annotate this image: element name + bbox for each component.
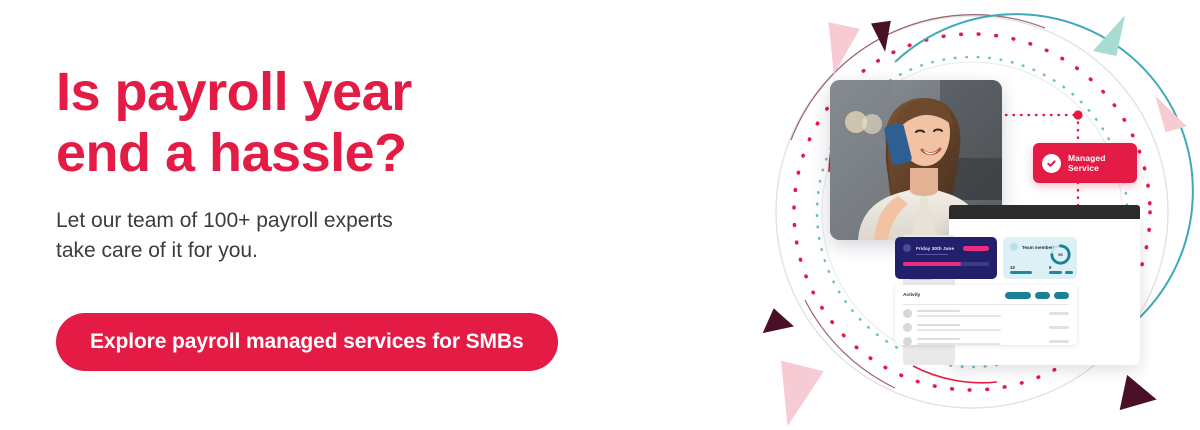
team-stat: 6 [1049,265,1073,275]
triangle-maroon-top [871,21,895,53]
dashboard-titlebar [949,205,1140,219]
team-gauge-value: 96 [1049,243,1072,266]
team-stat-value: 10 [1010,265,1032,270]
activity-card: Activity [895,285,1077,345]
hero-illustration: Managed Service Friday 30th June [745,0,1200,430]
date-progress-card: Friday 30th June [895,237,997,279]
list-item-meta [1049,312,1069,315]
avatar [903,337,912,346]
date-label: Friday 30th June [916,246,954,251]
avatar [903,309,912,318]
team-gauge: 96 [1049,243,1072,266]
progress-fill [903,262,961,266]
activity-filter-pill[interactable] [1054,292,1069,299]
check-circle-icon [1042,154,1061,173]
team-dot-icon [1010,243,1018,251]
list-item[interactable] [903,323,1069,332]
team-stat-bar [1065,271,1073,274]
managed-service-badge[interactable]: Managed Service [1033,143,1137,183]
dashboard-mockup: Friday 30th June Team members [875,205,1140,365]
list-item-text [917,324,1044,332]
managed-service-label: Managed Service [1068,153,1106,174]
activity-filter-pill[interactable] [1005,292,1031,299]
list-item-meta [1049,326,1069,329]
divider [903,304,1069,305]
progress-track [903,262,989,266]
hero-subcopy: Let our team of 100+ payroll experts tak… [56,206,676,267]
page-title: Is payroll year end a hassle? [56,62,676,184]
activity-filter-pill[interactable] [1035,292,1050,299]
date-label-underline [916,254,948,255]
calendar-dot-icon [903,244,911,252]
list-item-text [917,310,1044,318]
team-stat-bar [1010,271,1032,274]
avatar [903,323,912,332]
activity-title: Activity [903,293,920,298]
payroll-promo-banner: Is payroll year end a hassle? Let our te… [0,0,1200,430]
explore-payroll-services-button[interactable]: Explore payroll managed services for SMB… [56,313,558,371]
list-item-text [917,338,1044,346]
team-stat-bar [1049,271,1062,274]
team-stats: 10 6 [1010,265,1073,275]
date-card-pill [963,246,989,251]
activity-filter-pills [1005,292,1069,299]
list-item-meta [1049,340,1069,343]
list-item[interactable] [903,337,1069,346]
hero-copy: Is payroll year end a hassle? Let our te… [56,62,676,267]
team-stat-value: 6 [1049,265,1073,270]
team-stat: 10 [1010,265,1032,275]
arc-crimson-bottom [913,366,997,383]
list-item[interactable] [903,309,1069,318]
team-members-card: Team members 96 10 6 [1003,237,1077,279]
